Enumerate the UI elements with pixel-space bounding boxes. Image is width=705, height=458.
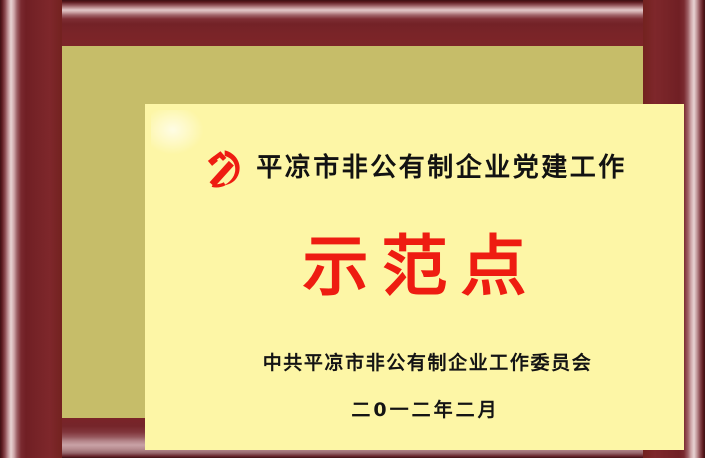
plaque-mat: 平凉市非公有制企业党建工作 示范点 中共平凉市非公有制企业工作委员会 二0一二年… — [62, 46, 643, 418]
frame-left-edge — [0, 0, 62, 458]
certificate-panel: 平凉市非公有制企业党建工作 示范点 中共平凉市非公有制企业工作委员会 二0一二年… — [145, 104, 684, 450]
frame-top-edge — [0, 0, 705, 46]
plaque-date: 二0一二年二月 — [145, 401, 684, 420]
award-plaque: 平凉市非公有制企业党建工作 示范点 中共平凉市非公有制企业工作委员会 二0一二年… — [0, 0, 705, 458]
plaque-headline: 示范点 — [145, 234, 684, 300]
cpc-hammer-sickle-emblem — [202, 147, 244, 189]
plaque-title: 平凉市非公有制企业党建工作 — [256, 155, 627, 181]
title-row: 平凉市非公有制企业党建工作 — [145, 142, 684, 194]
plaque-issuer: 中共平凉市非公有制企业工作委员会 — [145, 354, 684, 373]
